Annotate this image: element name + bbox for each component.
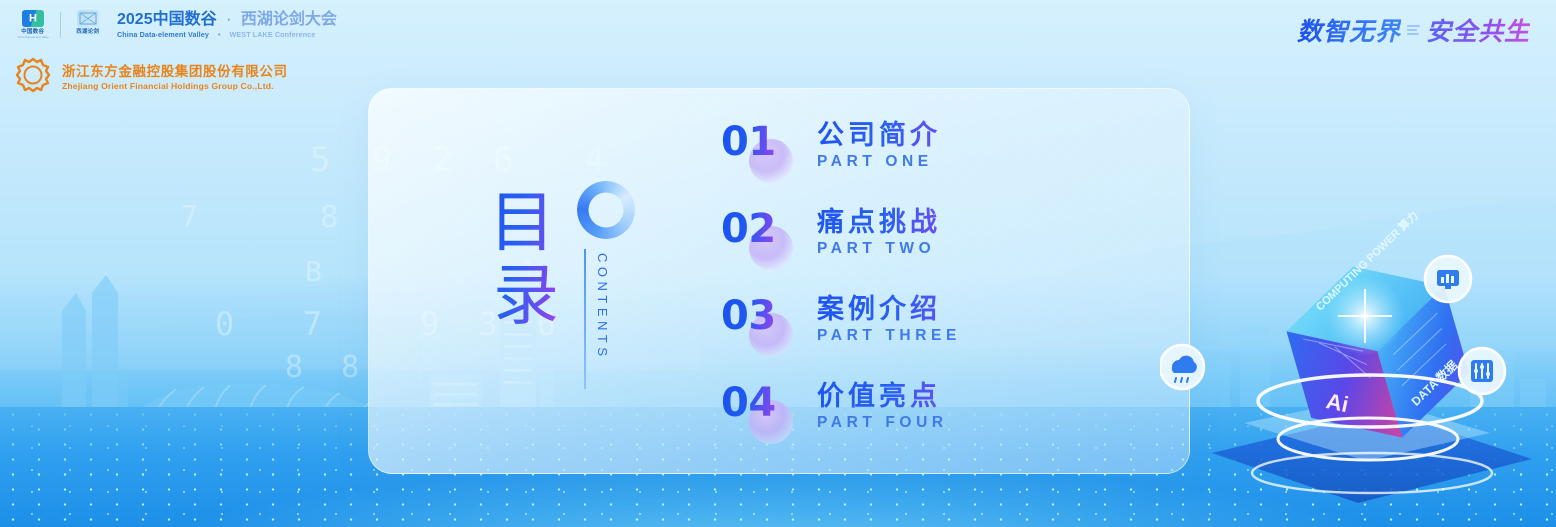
contents-item-01-number: 01: [721, 119, 776, 165]
contents-heading: 目 录 CONTENTS: [489, 181, 679, 401]
company-name-en: Zhejiang Orient Financial Holdings Group…: [62, 81, 288, 91]
vertical-divider: [584, 249, 586, 389]
logo-china-data-valley-cn: 中国数谷: [21, 28, 44, 35]
contents-item-04-number-wrap: 04: [721, 380, 817, 442]
logo-west-lake-mark: [77, 10, 99, 27]
company-name: 浙江东方金融控股集团股份有限公司 Zhejiang Orient Financi…: [62, 60, 288, 91]
contents-item-04-number: 04: [721, 380, 776, 426]
logo-china-data-valley-mark: H: [22, 10, 44, 27]
contents-item-03-title: 案例介绍: [817, 294, 961, 326]
contents-item-03-subtitle: PART THREE: [817, 327, 961, 345]
conference-title-en-b: WEST LAKE Conference: [230, 30, 316, 39]
conference-title-separator: ·: [226, 11, 231, 28]
contents-item-04[interactable]: 04 价值亮点 PART FOUR: [721, 380, 1141, 467]
contents-item-01[interactable]: 01 公司简介 PART ONE: [721, 119, 1141, 206]
contents-item-01-title: 公司简介: [817, 120, 941, 152]
slide-canvas: 5 9 2 6 4 7 8 B 1 0 7 9 3 6 8 8: [0, 0, 1556, 527]
data-cube-illustration: COMPUTING POWER 算力 Ai DATA 数据: [1160, 211, 1556, 511]
logo-west-lake: 西湖论剑: [69, 10, 107, 40]
badge-chart-monitor: [1425, 256, 1471, 302]
conference-branding: H 中国数谷 China Data-element Valley 西湖论剑 20…: [14, 10, 337, 40]
slogan-part2: 安全共生: [1426, 12, 1530, 48]
contents-item-02-number-wrap: 02: [721, 206, 817, 268]
contents-item-01-text: 公司简介 PART ONE: [817, 119, 941, 171]
contents-item-02-title: 痛点挑战: [817, 207, 941, 239]
contents-heading-en: CONTENTS: [595, 253, 610, 361]
company-branding: 浙江东方金融控股集团股份有限公司 Zhejiang Orient Financi…: [14, 56, 288, 94]
diamond-icon: [77, 10, 99, 27]
conference-slogan: 数智无界 安全共生: [1297, 12, 1530, 48]
contents-item-03-text: 案例介绍 PART THREE: [817, 293, 961, 345]
contents-heading-cn-2: 录: [493, 262, 561, 329]
contents-item-02-number: 02: [721, 206, 776, 252]
conference-title-cn-a: 2025中国数谷: [117, 11, 217, 28]
contents-item-03-number-wrap: 03: [721, 293, 817, 355]
logo-west-lake-cn: 西湖论剑: [76, 28, 99, 35]
contents-item-03-number: 03: [721, 293, 776, 339]
company-name-cn: 浙江东方金融控股集团股份有限公司: [62, 60, 288, 80]
company-emblem-icon: [14, 56, 52, 94]
contents-item-02-subtitle: PART TWO: [817, 240, 941, 258]
contents-heading-cn-1: 目: [489, 189, 561, 256]
contents-heading-cn: 目 录: [489, 189, 561, 330]
contents-item-04-subtitle: PART FOUR: [817, 414, 948, 432]
badge-cloud-rain: [1160, 345, 1204, 389]
contents-item-02-text: 痛点挑战 PART TWO: [817, 206, 941, 258]
slogan-bars-icon: [1407, 25, 1420, 35]
slogan-part1: 数智无界: [1297, 12, 1401, 48]
logo-china-data-valley-en: China Data-element Valley: [17, 36, 48, 39]
contents-item-02[interactable]: 02 痛点挑战 PART TWO: [721, 206, 1141, 293]
contents-item-04-title: 价值亮点: [817, 381, 948, 413]
logo-divider: [60, 12, 61, 38]
conference-title-en-a: China Data-element Valley: [117, 30, 209, 39]
conference-title: 2025中国数谷 · 西湖论剑大会 China Data-element Val…: [117, 11, 337, 40]
logo-glyph: H: [29, 13, 37, 24]
contents-card: 目 录 CONTENTS 01 公司简介 PART ONE: [368, 88, 1190, 474]
contents-item-03[interactable]: 03 案例介绍 PART THREE: [721, 293, 1141, 380]
logo-china-data-valley: H 中国数谷 China Data-element Valley: [14, 10, 52, 40]
contents-item-01-subtitle: PART ONE: [817, 153, 941, 171]
contents-item-04-text: 价值亮点 PART FOUR: [817, 380, 948, 432]
badge-server-rack: [1459, 348, 1505, 394]
contents-list: 01 公司简介 PART ONE 02 痛点挑战 PART TWO: [721, 119, 1141, 467]
conference-title-cn-b: 西湖论剑大会: [241, 11, 337, 28]
ring-decoration-icon: [577, 181, 635, 239]
contents-item-01-number-wrap: 01: [721, 119, 817, 181]
conference-title-en-separator: •: [218, 30, 221, 39]
